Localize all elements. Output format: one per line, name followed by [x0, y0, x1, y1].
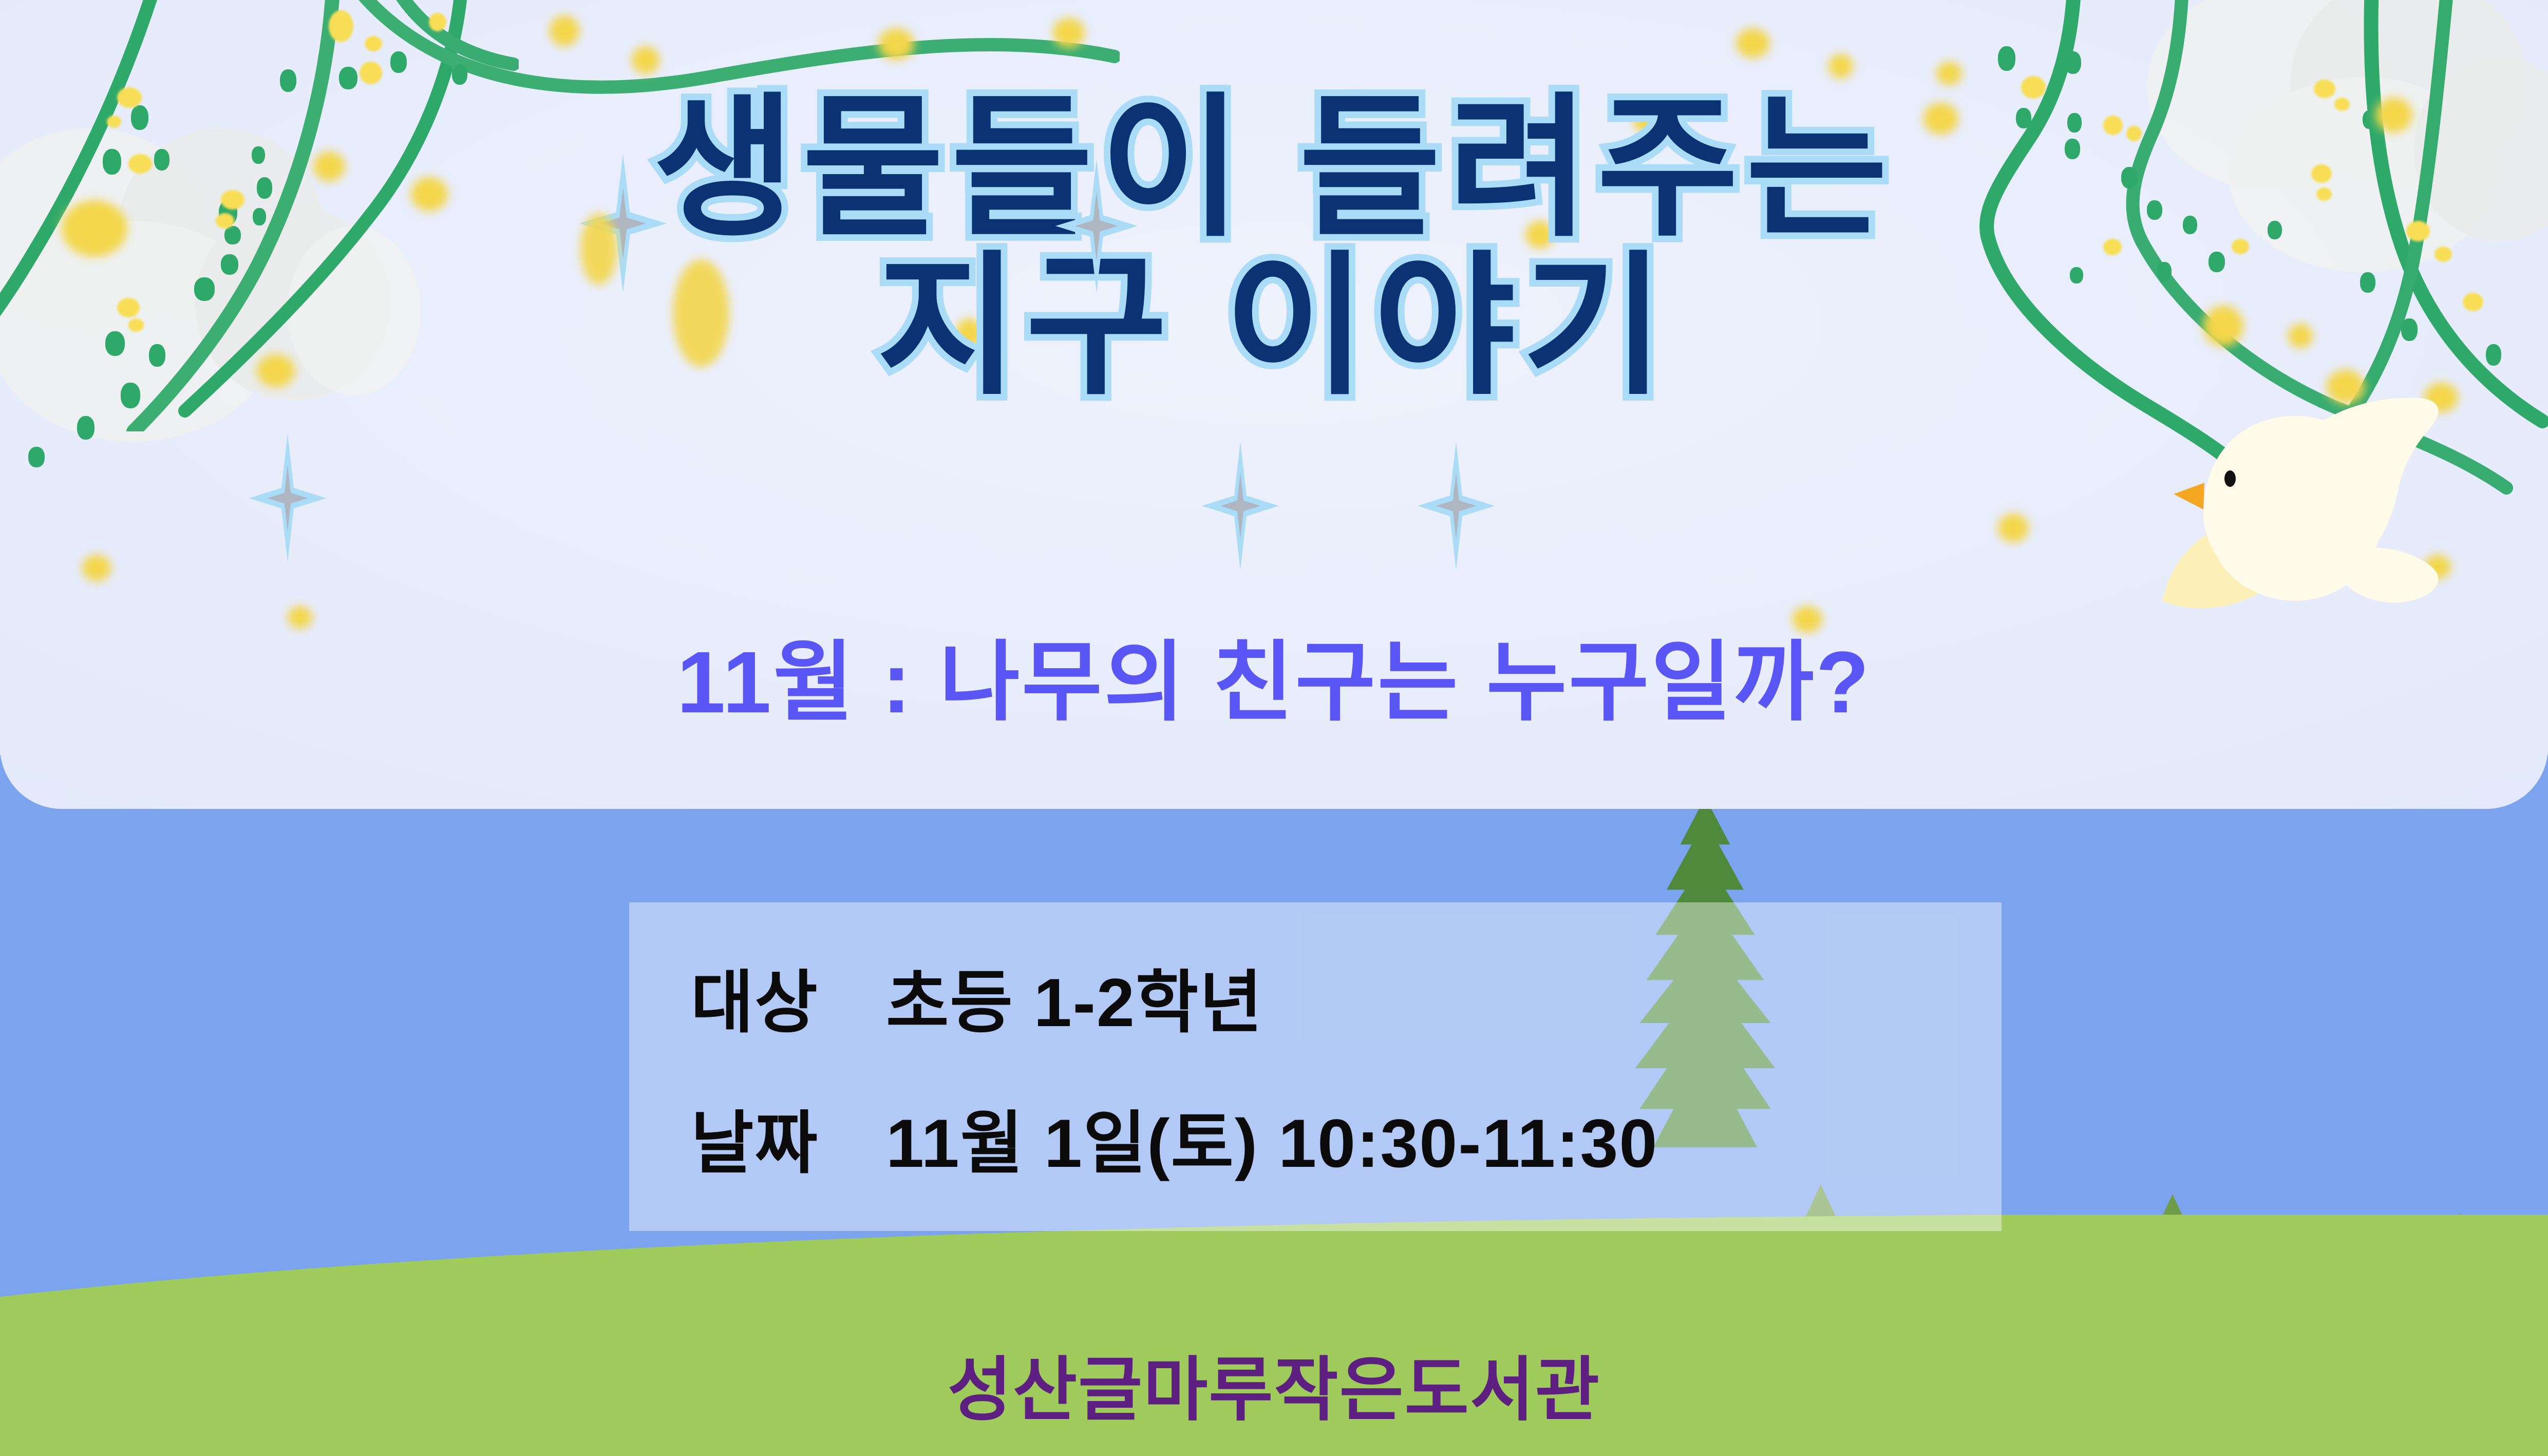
blossom-dot [329, 10, 353, 42]
blossom-dot [1936, 62, 1962, 85]
blossom-dot [580, 213, 617, 285]
library-name: 성산글마루작은도서관 [0, 1333, 2548, 1434]
blossom-dot [673, 259, 729, 367]
leaf-dot [280, 69, 296, 92]
leaf-dot [452, 64, 467, 85]
blossom-dot [1053, 18, 1085, 48]
blossom-dot [632, 46, 659, 74]
blossom-dot [1736, 28, 1770, 58]
event-info-panel: 대상초등 1-2학년 날짜11월 1일(토) 10:30-11:30 [629, 902, 2002, 1231]
poster-header: 생물들이 들려주는 지구 이야기 11월 : 나무의 친구는 누구일까? [0, 0, 2548, 809]
dove-icon [2142, 380, 2501, 616]
blossom-dot [429, 13, 446, 31]
blossom-dot [550, 15, 579, 46]
blossom-dot [878, 28, 914, 60]
leaf-dot [390, 51, 407, 73]
info-label-target: 대상 [691, 948, 886, 1046]
blossom-dot [82, 555, 111, 581]
blossom-dot [365, 36, 382, 51]
blossom-dot [360, 62, 382, 84]
info-row-target: 대상초등 1-2학년 [691, 948, 1263, 1046]
sparkle-icon [1202, 442, 1279, 570]
blossom-dot [1828, 54, 1853, 79]
poster-title: 생물들이 들려주는 지구 이야기 [0, 92, 2548, 402]
info-row-date: 날짜11월 1일(토) 10:30-11:30 [691, 1088, 1658, 1187]
title-line-1: 생물들이 들려주는 [0, 92, 2548, 243]
info-value-target: 초등 1-2학년 [886, 965, 1263, 1041]
leaf-dot [1998, 46, 2015, 71]
blossom-dot [1998, 514, 2029, 542]
info-label-date: 날짜 [691, 1088, 886, 1187]
title-line-2: 지구 이야기 [0, 251, 2548, 402]
poster-subtitle: 11월 : 나무의 친구는 누구일까? [0, 611, 2548, 738]
info-value-date: 11월 1일(토) 10:30-11:30 [886, 1106, 1658, 1182]
poster-canvas: 대상초등 1-2학년 날짜11월 1일(토) 10:30-11:30 [0, 0, 2548, 1456]
leaf-dot [2065, 51, 2081, 74]
leaf-dot [28, 447, 45, 467]
leaf-dot [339, 67, 357, 89]
leaf-dot [77, 416, 95, 440]
sparkle-icon [249, 434, 326, 562]
sparkle-icon [1418, 442, 1495, 570]
